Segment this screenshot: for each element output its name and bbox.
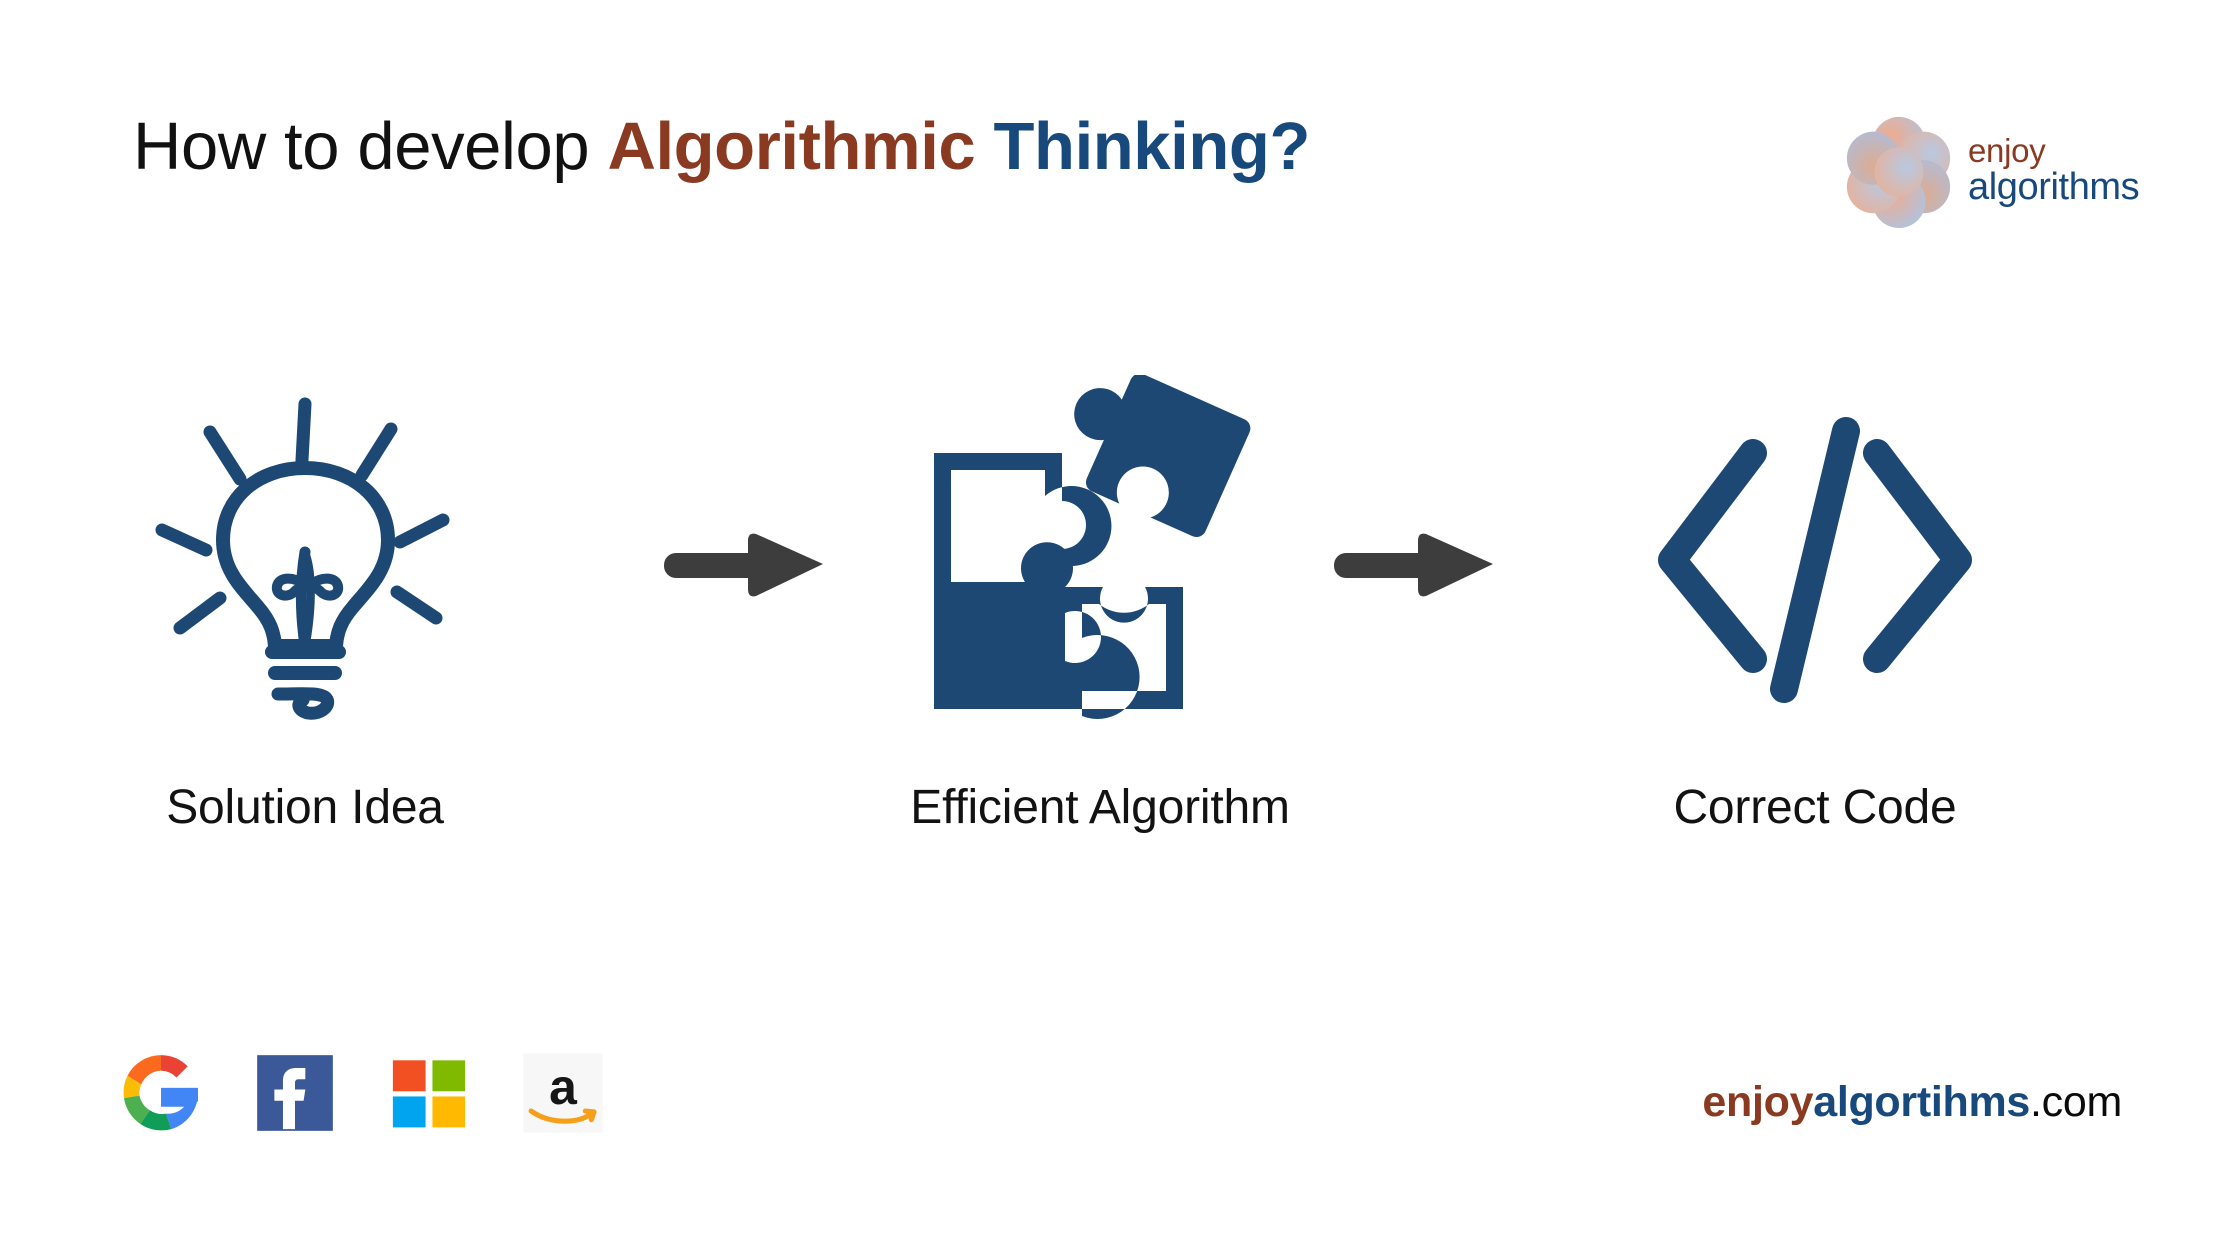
company-logos-row: a [118,1050,606,1136]
page-title: How to develop Algorithmic Thinking? [133,112,1310,182]
brand-logo[interactable]: enjoy algorithms [1840,112,2139,230]
step-efficient-algorithm: Efficient Algorithm [890,370,1310,900]
slide-canvas: How to develop Algorithmic Thinking? [0,0,2240,1260]
footer-url-tld: .com [2030,1078,2122,1126]
lightbulb-icon [140,380,470,740]
title-space [975,109,993,184]
brand-enjoy-text: enjoy [1968,134,2139,168]
google-logo [118,1050,204,1136]
overlapping-circles-rosette-icon [1840,112,1958,230]
arrow-right-icon [660,520,830,610]
footer-url-algorithms: algortihms [1813,1078,2030,1126]
title-part-plain: How to develop [133,109,607,184]
step-solution-idea: Solution Idea [95,370,515,900]
facebook-logo [252,1050,338,1136]
step-label-efficient-algorithm: Efficient Algorithm [910,780,1290,835]
step-art-container [95,370,515,750]
puzzle-pieces-icon [920,375,1280,745]
brand-wordmark: enjoy algorithms [1968,134,2139,207]
step-label-solution-idea: Solution Idea [166,780,444,835]
arrow-right-icon [1330,520,1500,610]
footer-website-url[interactable]: enjoyalgortihms.com [1702,1078,2122,1127]
footer-url-enjoy: enjoy [1702,1078,1813,1126]
amazon-logo: a [520,1050,606,1136]
title-part-algorithmic: Algorithmic [607,109,975,184]
title-part-thinking: Thinking? [994,109,1310,184]
step-art-container [890,370,1310,750]
step-art-container [1605,370,2025,750]
code-brackets-icon [1650,415,1980,705]
step-label-correct-code: Correct Code [1673,780,1956,835]
svg-text:a: a [549,1059,578,1115]
step-correct-code: Correct Code [1605,370,2025,900]
process-flow: Solution Idea [0,370,2240,900]
brand-algorithms-text: algorithms [1968,168,2139,207]
microsoft-logo [386,1050,472,1136]
